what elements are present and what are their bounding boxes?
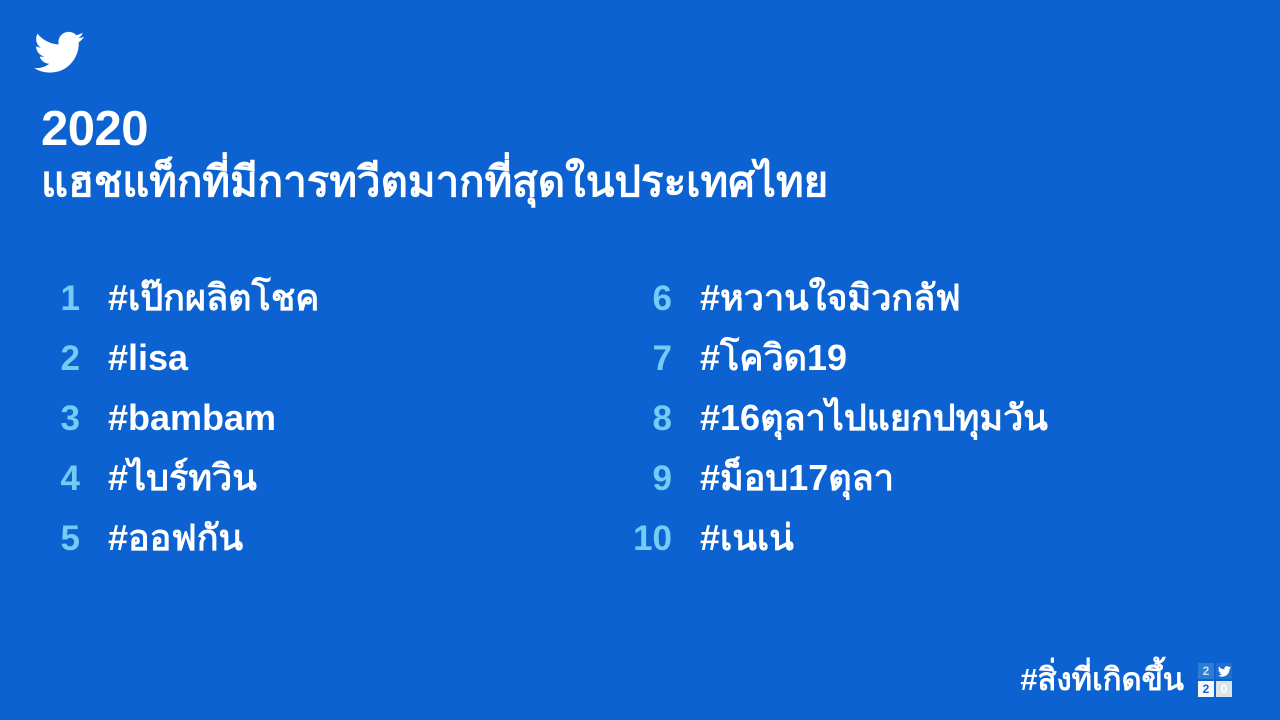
twitter-bird-icon (34, 30, 84, 75)
slide-canvas: 2020 แฮชแท็กที่มีการทวีตมากที่สุดในประเท… (0, 0, 1280, 720)
footer: #สิ่งที่เกิดขึ้น 2 2 0 (1020, 662, 1232, 698)
rank-number: 10 (620, 519, 672, 559)
list-item: 10 #เนเน่ (620, 518, 1260, 578)
twitter-bird-icon (1216, 663, 1232, 679)
hashtag-label[interactable]: #bambam (108, 398, 276, 438)
list-item: 9 #ม็อบ17ตุลา (620, 458, 1260, 518)
list-item: 1 #เป๊กผลิตโชค (28, 278, 628, 338)
hashtag-label[interactable]: #เนเน่ (700, 518, 794, 558)
rank-number: 8 (620, 399, 672, 439)
rank-number: 6 (620, 279, 672, 319)
hashtag-label[interactable]: #ไบร์ทวิน (108, 458, 257, 498)
hashtag-label[interactable]: #ออฟกัน (108, 518, 243, 558)
rank-number: 4 (28, 459, 80, 499)
badge-digit-bottom-right: 0 (1216, 681, 1232, 697)
ranking-column-left: 1 #เป๊กผลิตโชค 2 #lisa 3 #bambam 4 #ไบร์… (28, 278, 628, 578)
list-item: 6 #หวานใจมิวกลัฟ (620, 278, 1260, 338)
hashtag-label[interactable]: #lisa (108, 338, 188, 378)
list-item: 7 #โควิด19 (620, 338, 1260, 398)
rank-number: 2 (28, 339, 80, 379)
hashtag-label[interactable]: #ม็อบ17ตุลา (700, 458, 894, 498)
hashtag-label[interactable]: #โควิด19 (700, 338, 847, 378)
list-item: 8 #16ตุลาไปแยกปทุมวัน (620, 398, 1260, 458)
rank-number: 7 (620, 339, 672, 379)
rank-number: 9 (620, 459, 672, 499)
list-item: 2 #lisa (28, 338, 628, 398)
rank-number: 1 (28, 279, 80, 319)
badge-digit-bottom-left: 2 (1198, 681, 1214, 697)
page-title-year: 2020 (41, 104, 828, 154)
list-item: 4 #ไบร์ทวิน (28, 458, 628, 518)
badge-digit-top-left: 2 (1198, 663, 1214, 679)
hashtag-label[interactable]: #เป๊กผลิตโชค (108, 278, 319, 318)
page-subtitle: แฮชแท็กที่มีการทวีตมากที่สุดในประเทศไทย (41, 156, 828, 208)
campaign-2020-badge: 2 2 0 (1198, 663, 1232, 697)
ranking-column-right: 6 #หวานใจมิวกลัฟ 7 #โควิด19 8 #16ตุลาไปแ… (620, 278, 1260, 578)
footer-hashtag[interactable]: #สิ่งที่เกิดขึ้น (1020, 662, 1184, 698)
hashtag-label[interactable]: #16ตุลาไปแยกปทุมวัน (700, 398, 1048, 438)
rank-number: 5 (28, 519, 80, 559)
heading-block: 2020 แฮชแท็กที่มีการทวีตมากที่สุดในประเท… (41, 104, 828, 208)
hashtag-label[interactable]: #หวานใจมิวกลัฟ (700, 278, 961, 318)
list-item: 3 #bambam (28, 398, 628, 458)
list-item: 5 #ออฟกัน (28, 518, 628, 578)
rank-number: 3 (28, 399, 80, 439)
